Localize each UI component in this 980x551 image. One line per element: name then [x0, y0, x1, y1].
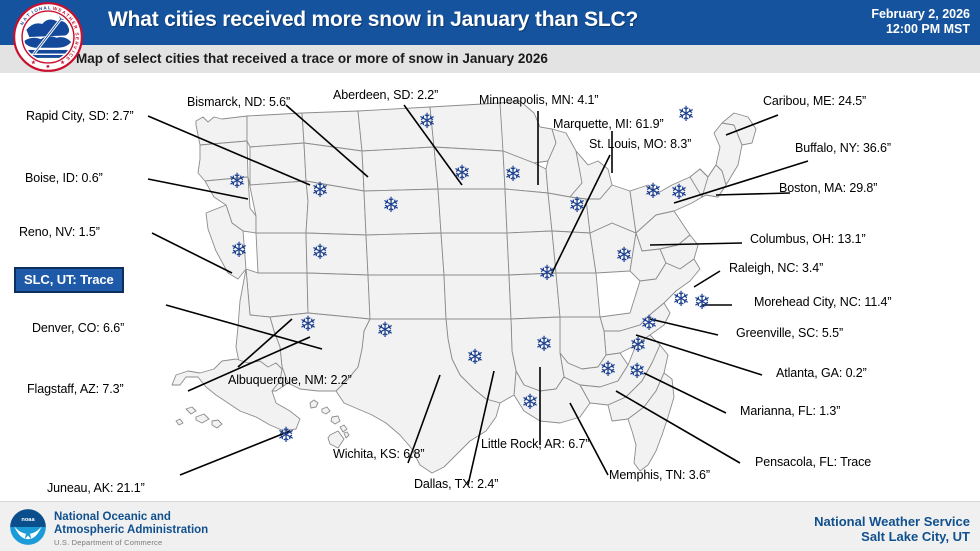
- label-marquette: Marquette, MI: 61.9”: [553, 117, 664, 131]
- svg-text:E: E: [75, 37, 80, 40]
- label-albuquerque: Albuquerque, NM: 2.2”: [228, 373, 352, 387]
- svg-text:S: S: [74, 32, 79, 36]
- label-memphis: Memphis, TN: 3.6”: [609, 468, 710, 482]
- snowflake-icon: ❄: [668, 182, 690, 204]
- snowflake-icon: ❄: [309, 180, 331, 202]
- subtitle-text: Map of select cities that received a tra…: [76, 51, 548, 66]
- nws-office-credit: National Weather Service Salt Lake City,…: [814, 514, 970, 544]
- label-caribou: Caribou, ME: 24.5”: [763, 94, 866, 108]
- snowflake-icon: ❄: [691, 292, 713, 314]
- snowflake-icon: ❄: [638, 313, 660, 335]
- noaa-agency-name: National Oceanic and Atmospheric Adminis…: [54, 511, 208, 537]
- snowflake-icon: ❄: [309, 242, 331, 264]
- snowflake-icon: ❄: [228, 240, 250, 262]
- snowflake-icon: ❄: [226, 171, 248, 193]
- snow-map-infographic: N A T I O N A L W E A T H E R S E R V I …: [0, 0, 980, 551]
- label-boise: Boise, ID: 0.6”: [25, 171, 103, 185]
- label-columbus: Columbus, OH: 13.1”: [750, 232, 866, 246]
- label-wichita: Wichita, KS: 6.8”: [333, 447, 424, 461]
- label-aberdeen: Aberdeen, SD: 2.2”: [333, 88, 438, 102]
- snowflake-icon: ❄: [670, 289, 692, 311]
- snowflake-icon: ❄: [597, 359, 619, 381]
- snowflake-icon: ❄: [675, 104, 697, 126]
- header-datetime: February 2, 2026 12:00 PM MST: [871, 7, 970, 37]
- nws-office-line1: National Weather Service: [814, 514, 970, 529]
- label-denver: Denver, CO: 6.6”: [32, 321, 124, 335]
- snowflake-icon: ❄: [380, 195, 402, 217]
- snowflake-icon: ❄: [275, 425, 297, 447]
- snowflake-icon: ❄: [416, 111, 438, 133]
- snowflake-icon: ❄: [626, 361, 648, 383]
- label-slc-highlight: SLC, UT: Trace: [14, 267, 124, 293]
- noaa-line1: National Oceanic and: [54, 511, 208, 524]
- label-marianna: Marianna, FL: 1.3”: [740, 404, 840, 418]
- label-dallas: Dallas, TX: 2.4”: [414, 477, 498, 491]
- state-outlines: [172, 101, 756, 473]
- snowflake-icon: ❄: [566, 195, 588, 217]
- label-morehead-city: Morehead City, NC: 11.4”: [754, 295, 891, 309]
- snowflake-icon: ❄: [297, 314, 319, 336]
- noaa-seagull-icon: noaa: [8, 508, 48, 546]
- label-rapid-city: Rapid City, SD: 2.7”: [26, 109, 134, 123]
- label-buffalo: Buffalo, NY: 36.6”: [795, 141, 891, 155]
- label-atlanta: Atlanta, GA: 0.2”: [776, 366, 867, 380]
- label-minneapolis: Minneapolis, MN: 4.1”: [479, 93, 598, 107]
- label-raleigh: Raleigh, NC: 3.4”: [729, 261, 823, 275]
- header-time: 12:00 PM MST: [871, 22, 970, 37]
- snowflake-icon: ❄: [642, 181, 664, 203]
- nws-seal-icon: N A T I O N A L W E A T H E R S E R V I …: [12, 1, 84, 73]
- label-bismarck: Bismarck, ND: 5.6”: [187, 95, 290, 109]
- label-boston: Boston, MA: 29.8”: [779, 181, 877, 195]
- label-juneau: Juneau, AK: 21.1”: [47, 481, 145, 495]
- svg-text:noaa: noaa: [21, 517, 35, 523]
- map-canvas: ❄ ❄ ❄ ❄ ❄ ❄ ❄ ❄ ❄ ❄ ❄ ❄ ❄ ❄ ❄ ❄ ❄ ❄ ❄ ❄ …: [0, 73, 980, 501]
- header-date: February 2, 2026: [871, 7, 970, 22]
- snowflake-icon: ❄: [536, 263, 558, 285]
- svg-text:L: L: [48, 5, 51, 10]
- noaa-department: U.S. Department of Commerce: [54, 538, 162, 547]
- snowflake-icon: ❄: [502, 164, 524, 186]
- noaa-line2: Atmospheric Administration: [54, 524, 208, 537]
- snowflake-icon: ❄: [627, 335, 649, 357]
- label-little-rock: Little Rock, AR: 6.7”: [481, 437, 589, 451]
- snowflake-icon: ❄: [613, 245, 635, 267]
- snowflake-icon: ❄: [533, 334, 555, 356]
- snowflake-icon: ❄: [451, 163, 473, 185]
- svg-text:★: ★: [45, 62, 50, 69]
- snowflake-icon: ❄: [374, 320, 396, 342]
- label-pensacola: Pensacola, FL: Trace: [755, 455, 871, 469]
- label-greenville: Greenville, SC: 5.5”: [736, 326, 843, 340]
- snowflake-icon: ❄: [519, 392, 541, 414]
- label-reno: Reno, NV: 1.5”: [19, 225, 100, 239]
- snowflake-icon: ❄: [464, 347, 486, 369]
- nws-office-line2: Salt Lake City, UT: [814, 529, 970, 544]
- label-st-louis: St. Louis, MO: 8.3”: [589, 137, 691, 151]
- label-flagstaff: Flagstaff, AZ: 7.3”: [27, 382, 124, 396]
- page-title: What cities received more snow in Januar…: [108, 8, 638, 32]
